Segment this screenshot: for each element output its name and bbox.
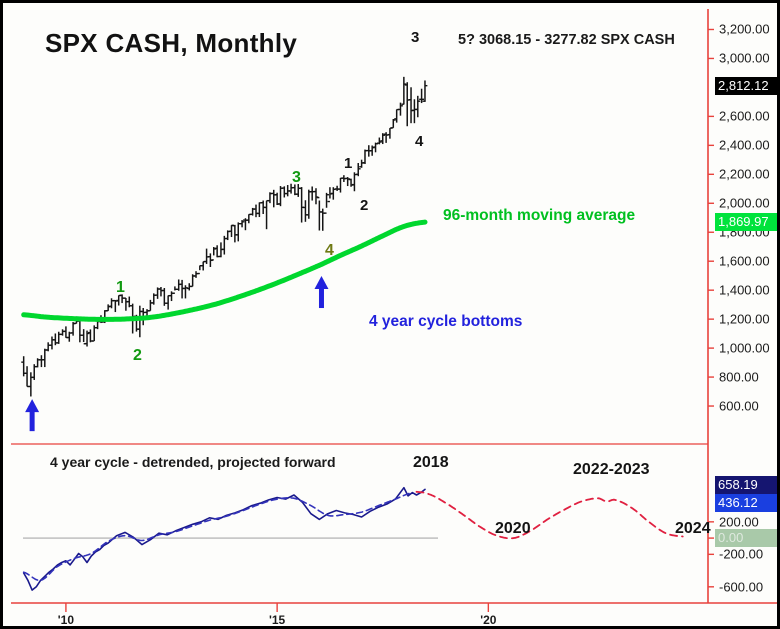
chart-container: SPX CASH, Monthly 5? 3068.15 - 3277.82 S… bbox=[0, 0, 780, 629]
cycle-fit-dashed-line bbox=[24, 493, 413, 581]
cycle-bottom-arrow-2009 bbox=[25, 399, 39, 431]
date-axis-tick-label: '10 bbox=[58, 613, 74, 627]
date-axis-tick-label: '15 bbox=[269, 613, 285, 627]
cycle-bottoms-label: 4 year cycle bottoms bbox=[369, 314, 522, 330]
price-axis-tick-label: 2,600.00 bbox=[719, 109, 770, 124]
moving-average-value-badge[interactable]: 1,869.97 bbox=[715, 213, 777, 231]
ohlc-bar-series bbox=[21, 77, 427, 397]
price-axis-tick-label: 600.00 bbox=[719, 399, 759, 414]
cycle-year-label-2018: 2018 bbox=[413, 455, 449, 471]
cycle-panel-title: 4 year cycle - detrended, projected forw… bbox=[50, 455, 336, 469]
cycle-lower-value-badge[interactable]: 436.12 bbox=[715, 494, 777, 512]
wave-label-olive-4: 4 bbox=[325, 243, 334, 259]
price-axis-tick-label: 2,400.00 bbox=[719, 138, 770, 153]
quote-subtitle: 5? 3068.15 - 3277.82 SPX CASH bbox=[458, 33, 675, 48]
price-axis-tick-label: 1,200.00 bbox=[719, 312, 770, 327]
cycle-zero-value-badge[interactable]: 0.00 bbox=[715, 529, 777, 547]
price-axis-tick-label: 3,000.00 bbox=[719, 51, 770, 66]
cycle-axis-tick-label: -600.00 bbox=[719, 579, 763, 594]
cycle-year-label-2020: 2020 bbox=[495, 521, 531, 537]
price-axis-tick-label: 1,600.00 bbox=[719, 254, 770, 269]
last-price-badge[interactable]: 2,812.12 bbox=[715, 77, 777, 95]
cycle-axis-tick-label: 200.00 bbox=[719, 514, 759, 529]
page-title: SPX CASH, Monthly bbox=[45, 30, 297, 56]
price-axis-tick-label: 3,200.00 bbox=[719, 22, 770, 37]
arrow-head bbox=[25, 399, 39, 412]
wave-label-black-2: 2 bbox=[360, 198, 368, 213]
cycle-bottom-arrow-2016 bbox=[314, 276, 328, 308]
cycle-projection-line bbox=[417, 492, 683, 539]
price-axis-tick-label: 800.00 bbox=[719, 370, 759, 385]
wave-label-green-1: 1 bbox=[116, 280, 125, 296]
wave-label-black-1: 1 bbox=[344, 156, 352, 171]
wave-label-black-4: 4 bbox=[415, 134, 423, 149]
price-axis-tick-label: 2,000.00 bbox=[719, 196, 770, 211]
wave-label-green-2: 2 bbox=[133, 348, 142, 364]
cycle-year-label-2024: 2024 bbox=[675, 521, 711, 537]
price-axis-tick-label: 1,400.00 bbox=[719, 283, 770, 298]
cycle-axis-tick-label: -200.00 bbox=[719, 547, 763, 562]
cycle-year-label-2022-2023: 2022-2023 bbox=[573, 462, 650, 478]
price-axis-tick-label: 1,000.00 bbox=[719, 341, 770, 356]
wave-label-black-3: 3 bbox=[411, 30, 419, 45]
date-axis-tick-label: '20 bbox=[480, 613, 496, 627]
wave-label-green-3: 3 bbox=[292, 170, 301, 186]
moving-average-label: 96-month moving average bbox=[443, 208, 635, 224]
arrow-head bbox=[314, 276, 328, 289]
cycle-upper-value-badge[interactable]: 658.19 bbox=[715, 476, 777, 494]
price-axis-tick-label: 2,200.00 bbox=[719, 167, 770, 182]
